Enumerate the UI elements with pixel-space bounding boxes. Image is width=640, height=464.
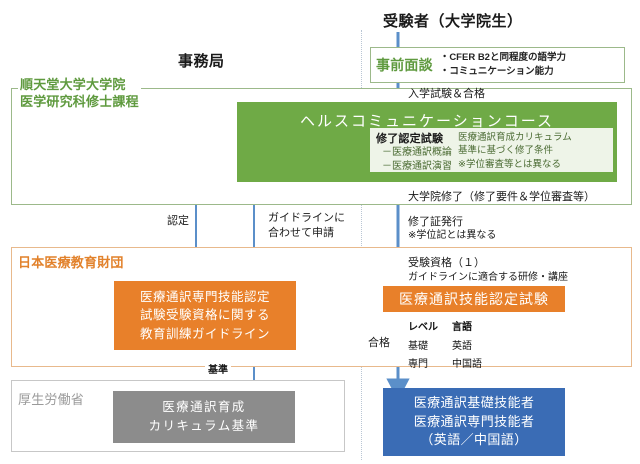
label-certificate-note: ※学位記とは異なる xyxy=(408,229,496,243)
completion-exam-title: 修了認定試験 xyxy=(376,130,452,146)
header-office: 事務局 xyxy=(178,50,225,71)
language-chinese: 中国語 xyxy=(452,355,482,370)
result-text: 医療通訳基礎技能者 医療通訳専門技能者 （英語／中国語） xyxy=(414,394,535,449)
panel-foundation-label: 日本医療教育財団 xyxy=(18,255,124,272)
pre-interview-box[interactable]: 事前面談 ・CFER B2と同程度の語学力 ・コミュニケーション能力 xyxy=(370,47,625,83)
result-box[interactable]: 医療通訳基礎技能者 医療通訳専門技能者 （英語／中国語） xyxy=(383,388,565,456)
panel-ministry-label: 厚生労働省 xyxy=(18,392,84,409)
level-specialist: 専門 xyxy=(408,355,452,370)
level-header: レベル xyxy=(408,318,452,333)
curriculum-text: 医療通訳育成 カリキュラム基準 xyxy=(149,398,260,436)
diagram-canvas: 受験者（大学院生） 事務局 事前面談 ・CFER B2と同程度の語学力 ・コミュ… xyxy=(0,0,640,464)
header-examinee: 受験者（大学院生） xyxy=(383,10,523,31)
label-standard: 基準 xyxy=(205,364,231,378)
exam-box[interactable]: 医療通訳技能認定試験 xyxy=(383,286,565,312)
pre-interview-bullets: ・CFER B2と同程度の語学力 ・コミュニケーション能力 xyxy=(440,51,566,79)
guideline-text: 医療通訳専門技能認定 試験受験資格に関する 教育訓練ガイドライン xyxy=(140,288,270,342)
language-header: 言語 xyxy=(452,318,472,333)
completion-exam-subjects: －医療通訳概論 －医療通訳演習 xyxy=(376,146,452,173)
label-entrance-exam: 入学試験＆合格 xyxy=(408,87,485,102)
label-qualification: 受験資格（１） xyxy=(408,256,485,271)
label-apply: ガイドラインに 合わせて申請 xyxy=(268,211,345,241)
label-qualification-note: ガイドラインに適合する研修・講座 xyxy=(408,271,568,285)
level-language-table: レベル 言語 基礎 英語 専門 中国語 xyxy=(408,318,482,370)
label-pass: 合格 xyxy=(368,334,390,350)
label-approval: 認定 xyxy=(167,214,189,229)
exam-name: 医療通訳技能認定試験 xyxy=(399,289,549,309)
label-certificate-issue: 修了証発行 xyxy=(408,215,463,230)
panel-university-label: 順天堂大学大学院 医学研究科修士課程 xyxy=(18,77,141,110)
level-basic: 基礎 xyxy=(408,337,452,352)
completion-exam-note: 医療通訳育成カリキュラム 基準に基づく修了条件 ※学位審査等とは異なる xyxy=(458,130,572,171)
curriculum-box[interactable]: 医療通訳育成 カリキュラム基準 xyxy=(113,391,295,443)
language-english: 英語 xyxy=(452,337,472,352)
completion-exam-box[interactable]: 修了認定試験 －医療通訳概論 －医療通訳演習 医療通訳育成カリキュラム 基準に基… xyxy=(370,128,613,172)
label-graduate-completion: 大学院修了（修了要件＆学位審査等） xyxy=(408,190,595,205)
guideline-box[interactable]: 医療通訳専門技能認定 試験受験資格に関する 教育訓練ガイドライン xyxy=(114,281,296,350)
pre-interview-title: 事前面談 xyxy=(376,55,433,75)
